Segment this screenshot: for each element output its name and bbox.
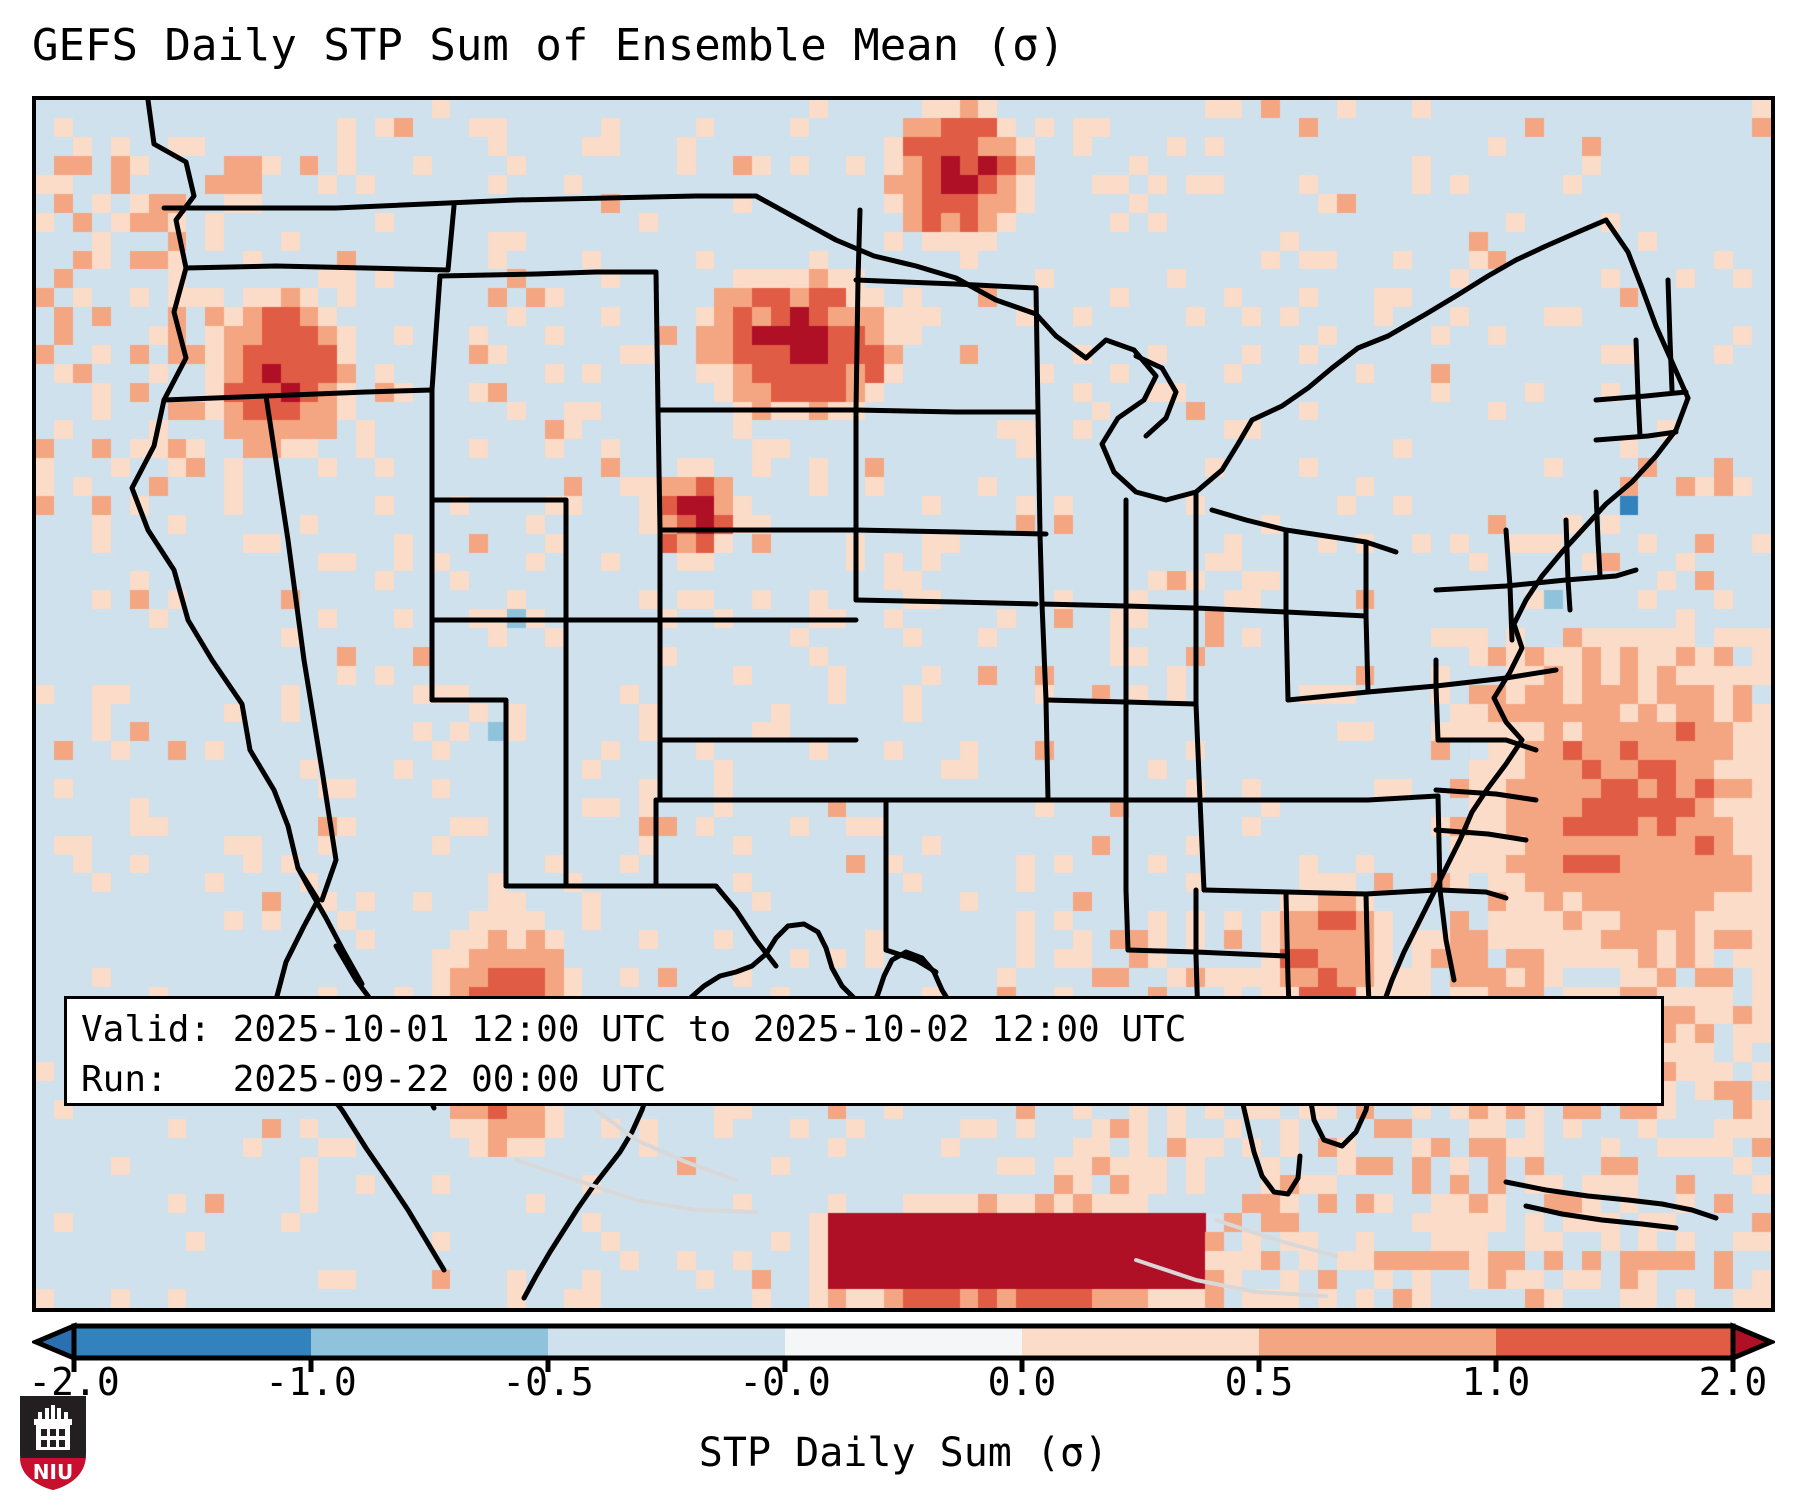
niu-logo-text: NIU (33, 1460, 73, 1484)
colorbar-tick-5: 0.5 (1225, 1358, 1294, 1406)
page-title: GEFS Daily STP Sum of Ensemble Mean (σ) (32, 14, 1772, 78)
map-canvas-area (36, 100, 1771, 1308)
colorbar-tick-6: 1.0 (1462, 1358, 1531, 1406)
map-panel: Valid: 2025-10-01 12:00 UTC to 2025-10-0… (32, 96, 1775, 1312)
figure-root: GEFS Daily STP Sum of Ensemble Mean (σ) … (0, 0, 1803, 1506)
colorbar: -2.0-1.0-0.5-0.00.00.51.02.0 (32, 1322, 1775, 1382)
colorbar-tick-7: 2.0 (1699, 1358, 1768, 1406)
map-borders-overlay (36, 100, 1771, 1308)
colorbar-tick-2: -0.5 (502, 1358, 594, 1406)
valid-run-info-box: Valid: 2025-10-01 12:00 UTC to 2025-10-0… (64, 996, 1664, 1106)
colorbar-tick-labels: -2.0-1.0-0.5-0.00.00.51.02.0 (32, 1358, 1775, 1406)
valid-line: Valid: 2025-10-01 12:00 UTC to 2025-10-0… (81, 1005, 1647, 1055)
colorbar-tick-1: -1.0 (265, 1358, 357, 1406)
run-line: Run: 2025-09-22 00:00 UTC (81, 1055, 1647, 1105)
colorbar-tick-3: -0.0 (739, 1358, 831, 1406)
niu-logo: NIU (16, 1392, 90, 1492)
colorbar-axis-label: STP Daily Sum (σ) (32, 1425, 1775, 1481)
colorbar-tick-4: 0.0 (988, 1358, 1057, 1406)
